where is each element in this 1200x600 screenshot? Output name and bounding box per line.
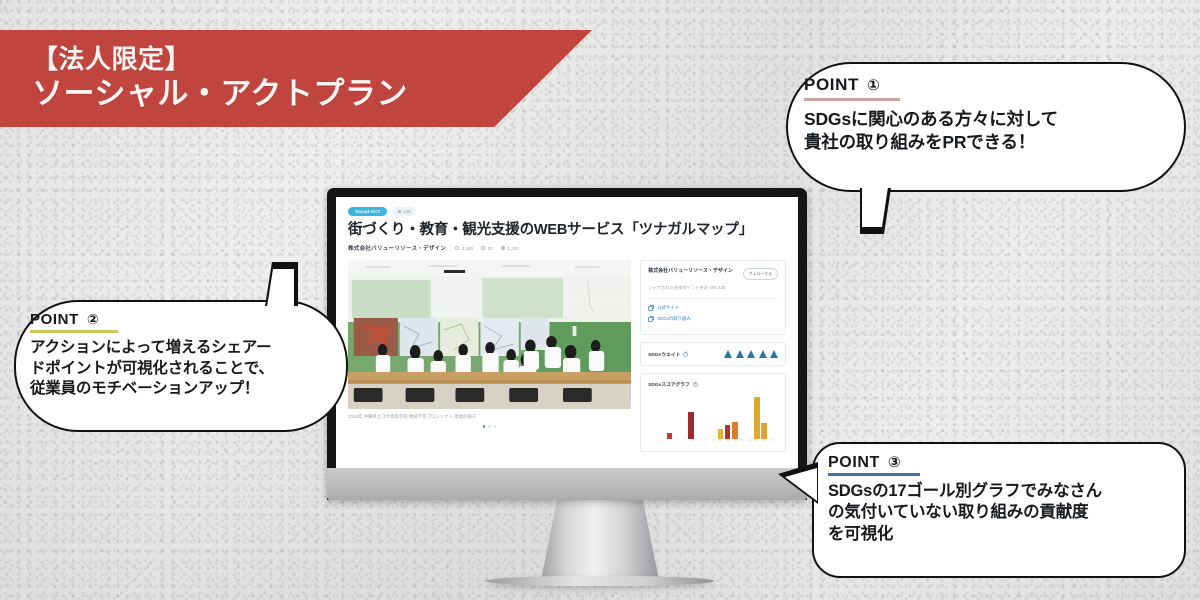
callout-1-label: POINT xyxy=(804,75,859,95)
stat-comments-value: 20 xyxy=(488,246,493,251)
sdgs-score-label-text: SDGsスコアグラフ xyxy=(648,381,690,388)
headline-banner: 【法人限定】 ソーシャル・アクトプラン xyxy=(0,30,592,127)
stat-likes[interactable]: 2,340 xyxy=(455,246,473,251)
badge-social-act[interactable]: Social-ACT xyxy=(348,207,387,216)
callout-3-body-line-2: の気付いていない取り組みの貢献度 xyxy=(828,502,1170,523)
question-icon[interactable]: ? xyxy=(693,382,698,387)
follow-button[interactable]: フォローする xyxy=(743,268,778,280)
chart-axis-tick: 6 xyxy=(688,439,694,442)
banner-line-1: 【法人限定】 xyxy=(32,44,592,76)
question-icon[interactable]: ? xyxy=(683,352,688,357)
stats-group: 2,340 20 1,230 xyxy=(455,246,519,251)
callout-2-body-line-2: ドポイントが可視化されることで、 xyxy=(30,359,332,380)
link-official-site[interactable]: 公式サイト xyxy=(648,305,778,311)
chart-bar xyxy=(732,422,738,440)
callout-1-body-line-1: SDGsに関心のある方々に対して xyxy=(804,108,1168,131)
chart-axis-tick: 1 xyxy=(652,439,658,442)
callout-3-label: POINT xyxy=(828,454,880,472)
monitor-screen: Social-ACT 129 街づくり・教育・観光支援のWEBサービス「ツナガル… xyxy=(336,197,798,468)
poster-canvas: 【法人限定】 ソーシャル・アクトプラン Social-ACT 129 街づくり・… xyxy=(0,0,1200,600)
monitor-stand-neck xyxy=(541,498,659,580)
share-points-total: シェアされた未来ポイント合計 456,235 xyxy=(648,285,778,291)
callout-tail-fill xyxy=(862,187,888,227)
comment-icon xyxy=(481,246,485,250)
weight-marker xyxy=(736,350,744,358)
callout-2-underline xyxy=(30,330,118,333)
stat-likes-value: 2,340 xyxy=(462,246,474,251)
callout-2-inner: POINT ② アクションによって増えるシェアー ドポイントが可視化されることで… xyxy=(16,302,346,410)
stat-views-value: 1,230 xyxy=(507,246,519,251)
photo-column: 2016年 沖縄県立コザ高等学校 地域学習プロジェクト 授業の様子 xyxy=(348,260,631,459)
card-divider xyxy=(648,298,778,299)
callout-1-head: POINT ① xyxy=(804,75,880,95)
dot-icon xyxy=(398,210,401,213)
chart-axis-tick: 5 xyxy=(681,439,687,442)
callout-3-body-line-3: を可視化 xyxy=(828,524,1170,545)
callout-2-label: POINT xyxy=(30,311,79,328)
meta-row: 株式会社バリューリソース・デザイン 2,340 20 1,230 xyxy=(348,244,786,252)
company-card-head: 株式会社バリューリソース・デザイン フォローする xyxy=(648,268,778,280)
classroom-photo-graphic xyxy=(348,260,631,409)
chart-axis-tick: 15 xyxy=(754,439,760,442)
photo-caption: 2016年 沖縄県立コザ高等学校 地域学習プロジェクト 授業の様子 xyxy=(348,414,631,420)
callout-3-number: ③ xyxy=(888,453,901,471)
weight-marker xyxy=(770,350,778,358)
sdgs-weight-label: SDGsウエイト ? xyxy=(648,351,688,358)
link-official-site-label: 公式サイト xyxy=(657,305,679,311)
badge-count[interactable]: 129 xyxy=(392,207,416,216)
tag-row: Social-ACT 129 xyxy=(348,207,786,216)
callout-3-underline xyxy=(828,473,920,476)
callout-1-number: ① xyxy=(867,76,880,94)
weight-marker xyxy=(759,350,767,358)
content-columns: 2016年 沖縄県立コザ高等学校 地域学習プロジェクト 授業の様子 株式会社バリ… xyxy=(348,260,786,459)
carousel-dots[interactable] xyxy=(348,425,631,428)
sdgs-score-label: SDGsスコアグラフ ? xyxy=(648,381,778,388)
badge-count-value: 129 xyxy=(403,209,410,214)
chart-axis-tick: 7 xyxy=(696,439,702,442)
chart-axis-labels: 1234567891011121314151617 xyxy=(652,439,774,442)
link-sdgs-efforts[interactable]: SDGsの取り組み xyxy=(648,316,778,322)
page-title: 街づくり・教育・観光支援のWEBサービス「ツナガルマップ」 xyxy=(348,222,786,239)
sdgs-weight-card: SDGsウエイト ? xyxy=(640,342,786,366)
callout-tail-fill xyxy=(785,468,817,501)
chart-axis-tick: 12 xyxy=(732,439,738,442)
callout-2-head: POINT ② xyxy=(30,311,99,328)
chart-axis-tick: 3 xyxy=(667,439,673,442)
chart-axis-tick: 11 xyxy=(725,439,731,442)
sidebar-column: 株式会社バリューリソース・デザイン フォローする シェアされた未来ポイント合計 … xyxy=(640,260,786,459)
classroom-photo[interactable] xyxy=(348,260,631,409)
external-link-icon xyxy=(648,306,653,311)
weight-row: SDGsウエイト ? xyxy=(648,350,778,358)
heart-icon xyxy=(455,246,459,250)
callout-3-inner: POINT ③ SDGsの17ゴール別グラフでみなさん の気付いていない取り組み… xyxy=(814,444,1184,555)
chart-bars xyxy=(652,395,774,439)
chart-bar xyxy=(725,425,731,439)
weight-marker xyxy=(747,350,755,358)
monitor-chin xyxy=(327,468,807,500)
callout-2-number: ② xyxy=(87,311,99,328)
callout-1-body-line-2: 貴社の取り組みをPRできる！ xyxy=(804,131,1168,154)
sdgs-score-card: SDGsスコアグラフ ? 1234567891011121314151617 xyxy=(640,373,786,452)
chart-axis-tick: 16 xyxy=(761,439,767,442)
monitor-stand-base xyxy=(486,576,714,586)
stat-views[interactable]: 1,230 xyxy=(501,246,519,251)
weight-marker xyxy=(724,350,732,358)
chart-axis-tick: 2 xyxy=(659,439,665,442)
meta-company-name[interactable]: 株式会社バリューリソース・デザイン xyxy=(348,244,446,252)
external-link-icon xyxy=(648,317,653,322)
chart-axis-tick: 14 xyxy=(747,439,753,442)
view-icon xyxy=(501,246,505,250)
callout-2-body-line-1: アクションによって増えるシェアー xyxy=(30,338,332,359)
chart-axis-tick: 17 xyxy=(768,439,774,442)
chart-bar xyxy=(718,429,724,440)
chart-bar xyxy=(688,412,694,439)
carousel-dot[interactable] xyxy=(488,425,491,428)
sdgs-score-chart: 1234567891011121314151617 xyxy=(648,396,778,444)
chart-bar xyxy=(754,397,760,439)
callout-1-underline xyxy=(804,98,900,101)
company-card: 株式会社バリューリソース・デザイン フォローする シェアされた未来ポイント合計 … xyxy=(640,260,786,335)
banner-line-2: ソーシャル・アクトプラン xyxy=(32,75,592,113)
chart-axis-tick: 9 xyxy=(710,439,716,442)
callout-tail-fill xyxy=(267,269,294,307)
callout-2-body-line-3: 従業員のモチベーションアップ！ xyxy=(30,379,332,400)
stat-comments[interactable]: 20 xyxy=(481,246,493,251)
callout-point-2: POINT ② アクションによって増えるシェアー ドポイントが可視化されることで… xyxy=(14,300,348,432)
callout-point-1: POINT ① SDGsに関心のある方々に対して 貴社の取り組みをPRできる！ xyxy=(786,62,1186,192)
sidebar-company-name: 株式会社バリューリソース・デザイン xyxy=(648,268,739,275)
web-page: Social-ACT 129 街づくり・教育・観光支援のWEBサービス「ツナガル… xyxy=(336,197,798,468)
callout-point-3: POINT ③ SDGsの17ゴール別グラフでみなさん の気付いていない取り組み… xyxy=(812,442,1186,578)
monitor-mockup: Social-ACT 129 街づくり・教育・観光支援のWEBサービス「ツナガル… xyxy=(327,188,807,500)
carousel-dot[interactable] xyxy=(483,425,486,428)
chart-axis-tick: 13 xyxy=(739,439,745,442)
carousel-dot[interactable] xyxy=(494,425,497,428)
chart-axis-tick: 4 xyxy=(674,439,680,442)
chart-bar xyxy=(761,423,767,439)
chart-axis-tick: 10 xyxy=(718,439,724,442)
callout-3-body-line-1: SDGsの17ゴール別グラフでみなさん xyxy=(828,481,1170,502)
callout-3-head: POINT ③ xyxy=(828,453,901,472)
sdgs-weight-label-text: SDGsウエイト xyxy=(648,351,680,358)
weight-markers xyxy=(724,350,778,358)
chart-axis-tick: 8 xyxy=(703,439,709,442)
callout-1-inner: POINT ① SDGsに関心のある方々に対して 貴社の取り組みをPRできる！ xyxy=(788,64,1184,167)
link-sdgs-efforts-label: SDGsの取り組み xyxy=(657,316,691,322)
